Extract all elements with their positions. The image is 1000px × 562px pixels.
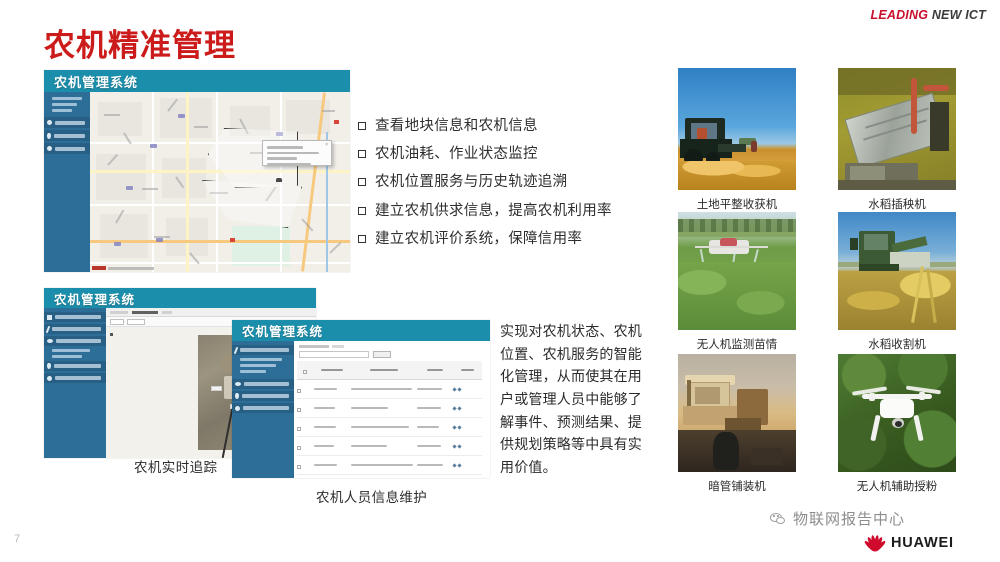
map-logo (92, 266, 106, 270)
sidebar-item-system-label (55, 376, 101, 380)
pencil-icon (46, 325, 50, 332)
bullet-square-icon (358, 207, 366, 215)
popup-line-3 (267, 163, 311, 166)
cell-operator (417, 456, 452, 475)
map-block (96, 154, 146, 200)
sidebar-item-tracking-label (244, 382, 289, 386)
summary-paragraph: 实现对农机状态、农机位置、农机服务的智能化管理，从而使其在用户或管理人员中能够了… (500, 320, 655, 479)
bullet-text: 建立农机评价系统，保障信用率 (375, 231, 582, 248)
bottom-left-caption: 农机实时追踪 (134, 456, 217, 476)
map-route-shield (126, 186, 133, 190)
top-app-subgroup (44, 97, 90, 112)
map-cursor-marker (110, 333, 113, 336)
photo-pollination-drone (838, 354, 956, 472)
machinery-label[interactable] (211, 386, 222, 391)
bullet-text: 查看地块信息和农机信息 (375, 118, 538, 135)
edit-icon[interactable] (452, 425, 456, 429)
tab-close-icon[interactable] (162, 311, 172, 314)
cell-org-code (314, 475, 351, 479)
pin-icon (235, 393, 239, 399)
map-poi-marker[interactable] (334, 120, 339, 124)
cell-org-code (314, 437, 351, 456)
map-block (162, 158, 206, 198)
bullet-text: 建立农机供求信息，提高农机利用率 (375, 203, 612, 220)
eye-icon (47, 120, 52, 125)
table-header-checkbox[interactable] (297, 361, 314, 380)
map-poi-marker[interactable] (230, 238, 235, 242)
cell-actions[interactable] (453, 475, 483, 479)
photo-caption: 水稻收割机 (838, 336, 956, 352)
personnel-table[interactable] (297, 361, 482, 478)
bullet-square-icon (358, 178, 366, 186)
top-app-subitem-0[interactable] (52, 97, 82, 100)
sidebar-item-dispatch[interactable] (232, 391, 294, 401)
tab-strip[interactable] (106, 308, 316, 317)
cell-org-code (314, 399, 351, 418)
delete-icon[interactable] (457, 387, 461, 391)
row-select-checkbox[interactable] (297, 427, 301, 431)
sidebar-subitem-vehicle-position[interactable] (240, 358, 282, 361)
page-title: 农机精准管理 (44, 20, 236, 65)
bottom-left-sidebar[interactable] (44, 308, 106, 458)
edit-icon[interactable] (452, 406, 456, 410)
farm-machinery-map-screenshot: 农机管理系统 (44, 70, 350, 272)
map-attribution (92, 266, 154, 270)
row-select-checkbox[interactable] (297, 446, 301, 450)
delete-icon[interactable] (457, 406, 461, 410)
top-app-body: × (44, 92, 350, 272)
sidebar-item-map-manage[interactable] (232, 345, 294, 355)
gear-icon (235, 406, 240, 411)
tab-item[interactable] (110, 311, 128, 314)
tab-item-active[interactable] (132, 311, 158, 314)
bullet-square-icon (358, 122, 366, 130)
sidebar-subitem-machinery-manage[interactable] (240, 370, 266, 373)
huawei-wordmark: HUAWEI (891, 535, 954, 551)
cell-actions[interactable] (453, 418, 483, 437)
brand-new-ict-text: NEW ICT (932, 8, 986, 22)
table-row[interactable] (297, 399, 482, 418)
wechat-icon (770, 512, 787, 526)
sidebar-item-system[interactable] (44, 373, 106, 383)
bottom-right-app-title: 农机管理系统 (232, 321, 323, 340)
bottom-left-app-title: 农机管理系统 (44, 289, 135, 308)
brand-leading-text: LEADING (870, 8, 928, 22)
sidebar-subitem-realtime-position[interactable] (52, 349, 90, 352)
cell-org-code (314, 456, 351, 475)
top-app-title: 农机管理系统 (44, 72, 138, 91)
map-arterial-road (90, 170, 350, 173)
cell-org-name (351, 380, 418, 399)
toolbar-select-secondary[interactable] (127, 319, 145, 325)
map-road (152, 92, 154, 272)
photo-caption: 无人机监测苗情 (678, 336, 796, 352)
cell-org-name (351, 418, 418, 437)
row-checkbox[interactable] (297, 475, 314, 479)
bottom-left-subgroup (44, 349, 106, 358)
table-header-row (297, 361, 482, 380)
row-select-checkbox[interactable] (297, 408, 301, 412)
cell-operator (417, 399, 452, 418)
photo-subsurface-pipe-layer (678, 354, 796, 472)
popup-line-2 (267, 157, 297, 160)
breadcrumb (299, 345, 490, 348)
bullet-item: 农机位置服务与历史轨迹追溯 (358, 174, 612, 191)
cell-org-code (314, 380, 351, 399)
cell-operator (417, 380, 452, 399)
pencil-icon (234, 346, 238, 353)
sidebar-item-tracking[interactable] (44, 130, 90, 141)
personnel-info-screenshot: 农机管理系统 (232, 320, 490, 478)
sidebar-item-system[interactable] (44, 143, 90, 154)
row-select-checkbox[interactable] (297, 389, 301, 393)
map-route-shield (150, 144, 157, 148)
photo-drone-crop-monitoring (678, 212, 796, 330)
map-block (98, 102, 142, 136)
map-road (90, 262, 350, 264)
row-select-checkbox[interactable] (297, 465, 301, 469)
bullet-square-icon (358, 235, 366, 243)
brand-lockup: LEADING NEW ICT (870, 8, 986, 22)
sidebar-item-map-browse-label (55, 315, 101, 319)
eye-icon (47, 339, 53, 343)
bullet-item: 查看地块信息和农机信息 (358, 118, 612, 135)
cell-actions[interactable] (453, 380, 483, 399)
pin-icon (47, 363, 51, 369)
table-row[interactable] (297, 437, 482, 456)
cell-actions[interactable] (453, 399, 483, 418)
row-checkbox[interactable] (297, 456, 314, 475)
eye-icon (235, 382, 241, 386)
map-label (329, 242, 341, 254)
map-label (194, 126, 208, 128)
photo-caption: 无人机辅助授粉 (838, 478, 956, 494)
sidebar-item-map-manage[interactable] (44, 117, 90, 128)
delete-icon[interactable] (457, 444, 461, 448)
photo-caption: 水稻插秧机 (838, 196, 956, 212)
sidebar-item-tracking[interactable] (44, 336, 106, 346)
bullet-text: 农机油耗、作业状态监控 (375, 146, 538, 163)
gear-icon (47, 146, 52, 151)
row-checkbox[interactable] (297, 418, 314, 437)
cell-operator (417, 475, 452, 479)
bottom-right-subgroup (232, 358, 294, 373)
map-block (100, 214, 148, 258)
toolbar-select[interactable] (110, 319, 124, 325)
map-attribution-text (108, 267, 154, 270)
bullet-item: 建立农机供求信息，提高农机利用率 (358, 203, 612, 220)
sidebar-item-map-manage[interactable] (44, 324, 106, 334)
table-body (297, 380, 482, 479)
sidebar-subitem-history-track[interactable] (52, 355, 82, 358)
sidebar-item-dispatch-label (54, 364, 101, 368)
edit-icon[interactable] (452, 444, 456, 448)
cell-org-name (351, 456, 418, 475)
home-icon (47, 315, 52, 320)
sidebar-item-tracking-label (56, 339, 101, 343)
search-row[interactable] (299, 351, 490, 358)
cell-org-code (314, 418, 351, 437)
top-app-sidebar[interactable] (44, 92, 90, 272)
sidebar-item-dispatch-label (242, 394, 289, 398)
bullet-item: 建立农机评价系统，保障信用率 (358, 231, 612, 248)
sidebar-item-dispatch[interactable] (44, 361, 106, 371)
gear-icon (47, 376, 52, 381)
sidebar-item-map-browse[interactable] (44, 312, 106, 322)
bullet-item: 农机油耗、作业状态监控 (358, 146, 612, 163)
table-header-org-name (351, 361, 418, 380)
top-app-subitem-1[interactable] (52, 103, 77, 106)
photo-land-leveling-harvester (678, 68, 796, 190)
bullet-square-icon (358, 150, 366, 158)
feature-bullet-list: 查看地块信息和农机信息 农机油耗、作业状态监控 农机位置服务与历史轨迹追溯 建立… (358, 118, 612, 259)
bottom-right-sidebar[interactable] (232, 341, 294, 478)
wechat-watermark: 物联网报告中心 (770, 508, 905, 529)
map-route-shield (156, 238, 163, 242)
huawei-lockup: HUAWEI (862, 534, 954, 551)
table-header-actions (453, 361, 483, 380)
sidebar-item-system[interactable] (232, 403, 294, 413)
table-row[interactable] (297, 456, 482, 475)
top-app-subitem-2[interactable] (52, 109, 72, 112)
delete-icon[interactable] (457, 425, 461, 429)
sidebar-item-system-label (243, 406, 289, 410)
page-number: 7 (14, 533, 20, 545)
sidebar-item-tracking-label (54, 134, 85, 138)
cell-actions[interactable] (453, 437, 483, 456)
row-checkbox[interactable] (297, 399, 314, 418)
table-header-org-code (314, 361, 351, 380)
map-route-shield (114, 242, 121, 246)
table-row[interactable] (297, 418, 482, 437)
cell-org-name (351, 475, 418, 479)
bottom-left-app-header: 农机管理系统 (44, 288, 316, 308)
edit-icon[interactable] (452, 387, 456, 391)
sidebar-item-system-label (55, 147, 85, 151)
map-highway (90, 240, 350, 243)
table-header-operator (417, 361, 452, 380)
search-button[interactable] (373, 351, 391, 358)
parcel-info-popup[interactable]: × (262, 140, 332, 166)
sidebar-subitem-personnel-info[interactable] (240, 364, 276, 367)
map-label (142, 188, 158, 190)
sidebar-item-map-manage-label (52, 327, 101, 331)
row-checkbox[interactable] (297, 437, 314, 456)
top-app-header: 农机管理系统 (44, 70, 350, 92)
map-label (322, 110, 335, 112)
popup-line-1 (267, 152, 319, 155)
photo-caption: 土地平整收获机 (678, 196, 796, 212)
machinery-marker[interactable] (276, 178, 282, 182)
map-canvas[interactable]: × (90, 92, 350, 272)
sidebar-item-tracking[interactable] (232, 379, 294, 389)
map-route-shield (178, 114, 185, 118)
pin-icon (47, 133, 51, 139)
sidebar-item-map-manage-label (240, 348, 289, 352)
popup-line-0 (267, 146, 303, 149)
sidebar-item-map-manage-label (55, 121, 85, 125)
select-all-checkbox[interactable] (303, 370, 307, 374)
cell-org-name (351, 437, 418, 456)
table-row[interactable] (297, 475, 482, 479)
huawei-flower-logo (862, 534, 886, 551)
bullet-text: 农机位置服务与历史轨迹追溯 (375, 174, 567, 191)
cell-actions[interactable] (453, 456, 483, 475)
bottom-right-app-body (232, 341, 490, 478)
row-checkbox[interactable] (297, 380, 314, 399)
bottom-right-app-header: 农机管理系统 (232, 320, 490, 341)
search-input[interactable] (299, 351, 369, 358)
map-arterial-road (186, 92, 189, 272)
cell-operator (417, 437, 452, 456)
watermark-text: 物联网报告中心 (793, 508, 905, 529)
map-label (104, 114, 120, 116)
breadcrumb-separator (332, 345, 344, 348)
photo-rice-transplanter (838, 68, 956, 190)
bottom-right-caption: 农机人员信息维护 (316, 486, 427, 506)
edit-icon[interactable] (452, 463, 456, 467)
cell-operator (417, 418, 452, 437)
photo-caption: 暗管铺装机 (678, 478, 796, 494)
popup-close-icon[interactable]: × (325, 142, 328, 148)
delete-icon[interactable] (457, 463, 461, 467)
breadcrumb-text (299, 345, 329, 348)
table-row[interactable] (297, 380, 482, 399)
personnel-table-panel[interactable] (294, 341, 490, 478)
cell-org-name (351, 399, 418, 418)
photo-rice-combine-harvester (838, 212, 956, 330)
